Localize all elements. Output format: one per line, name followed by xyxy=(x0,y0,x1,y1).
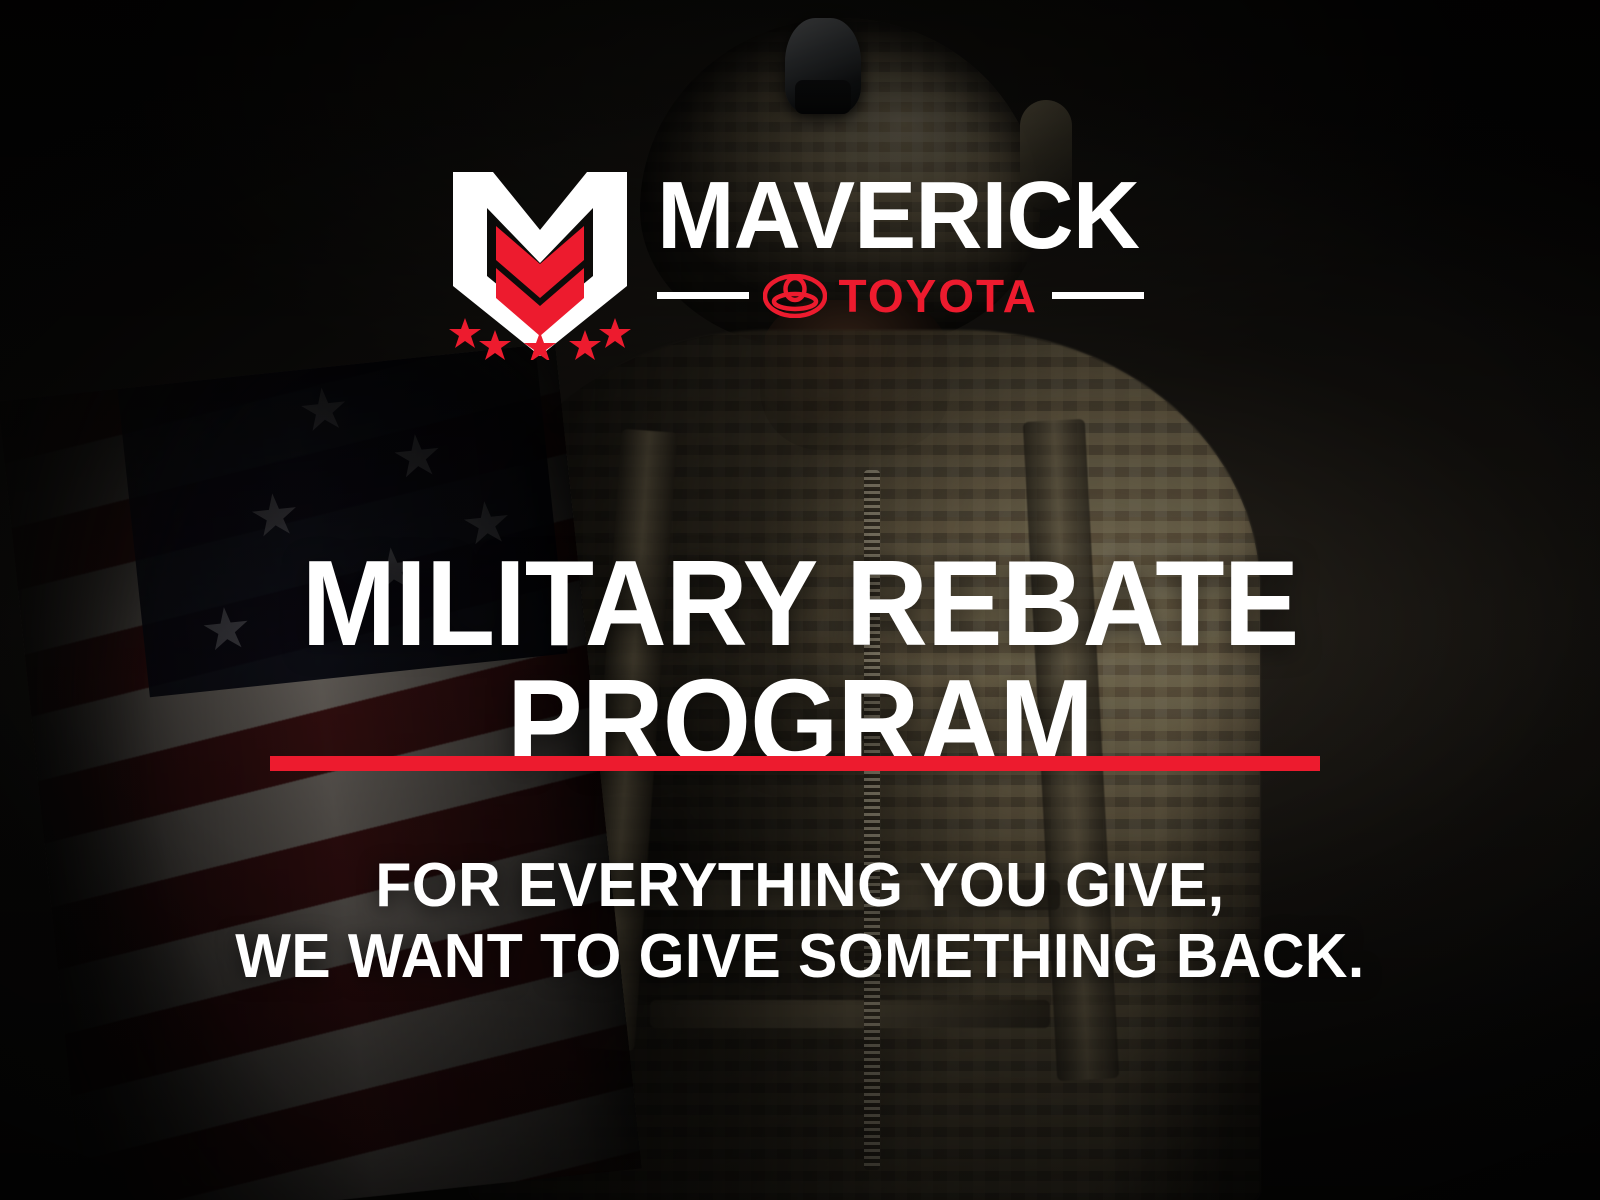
tagline-line-1: FOR EVERYTHING YOU GIVE, xyxy=(375,851,1224,920)
military-rebate-hero-banner: MAVERICK TOYOTA xyxy=(0,0,1600,1200)
tagline: FOR EVERYTHING YOU GIVE, WE WANT TO GIVE… xyxy=(40,850,1560,993)
banner-content: MAVERICK TOYOTA xyxy=(0,0,1600,1200)
tagline-line-2: WE WANT TO GIVE SOMETHING BACK. xyxy=(40,921,1560,992)
toyota-wordmark: TOYOTA xyxy=(839,273,1038,319)
maverick-chevron-shield-emblem xyxy=(447,168,633,360)
headline-line-1: MILITARY REBATE xyxy=(302,535,1299,671)
red-divider-rule xyxy=(270,756,1320,771)
toyota-logo-group: TOYOTA xyxy=(763,273,1038,319)
toyota-sub-lockup: TOYOTA xyxy=(657,273,1154,319)
page-title: MILITARY REBATE PROGRAM xyxy=(56,544,1544,783)
lockup-rule-right xyxy=(1052,292,1144,299)
toyota-ellipse-icon xyxy=(763,274,827,318)
brand-name-maverick: MAVERICK xyxy=(657,176,1139,257)
lockup-rule-left xyxy=(657,292,749,299)
maverick-toyota-logo[interactable]: MAVERICK TOYOTA xyxy=(0,168,1600,360)
brand-wordmark: MAVERICK TOYOTA xyxy=(657,168,1154,319)
